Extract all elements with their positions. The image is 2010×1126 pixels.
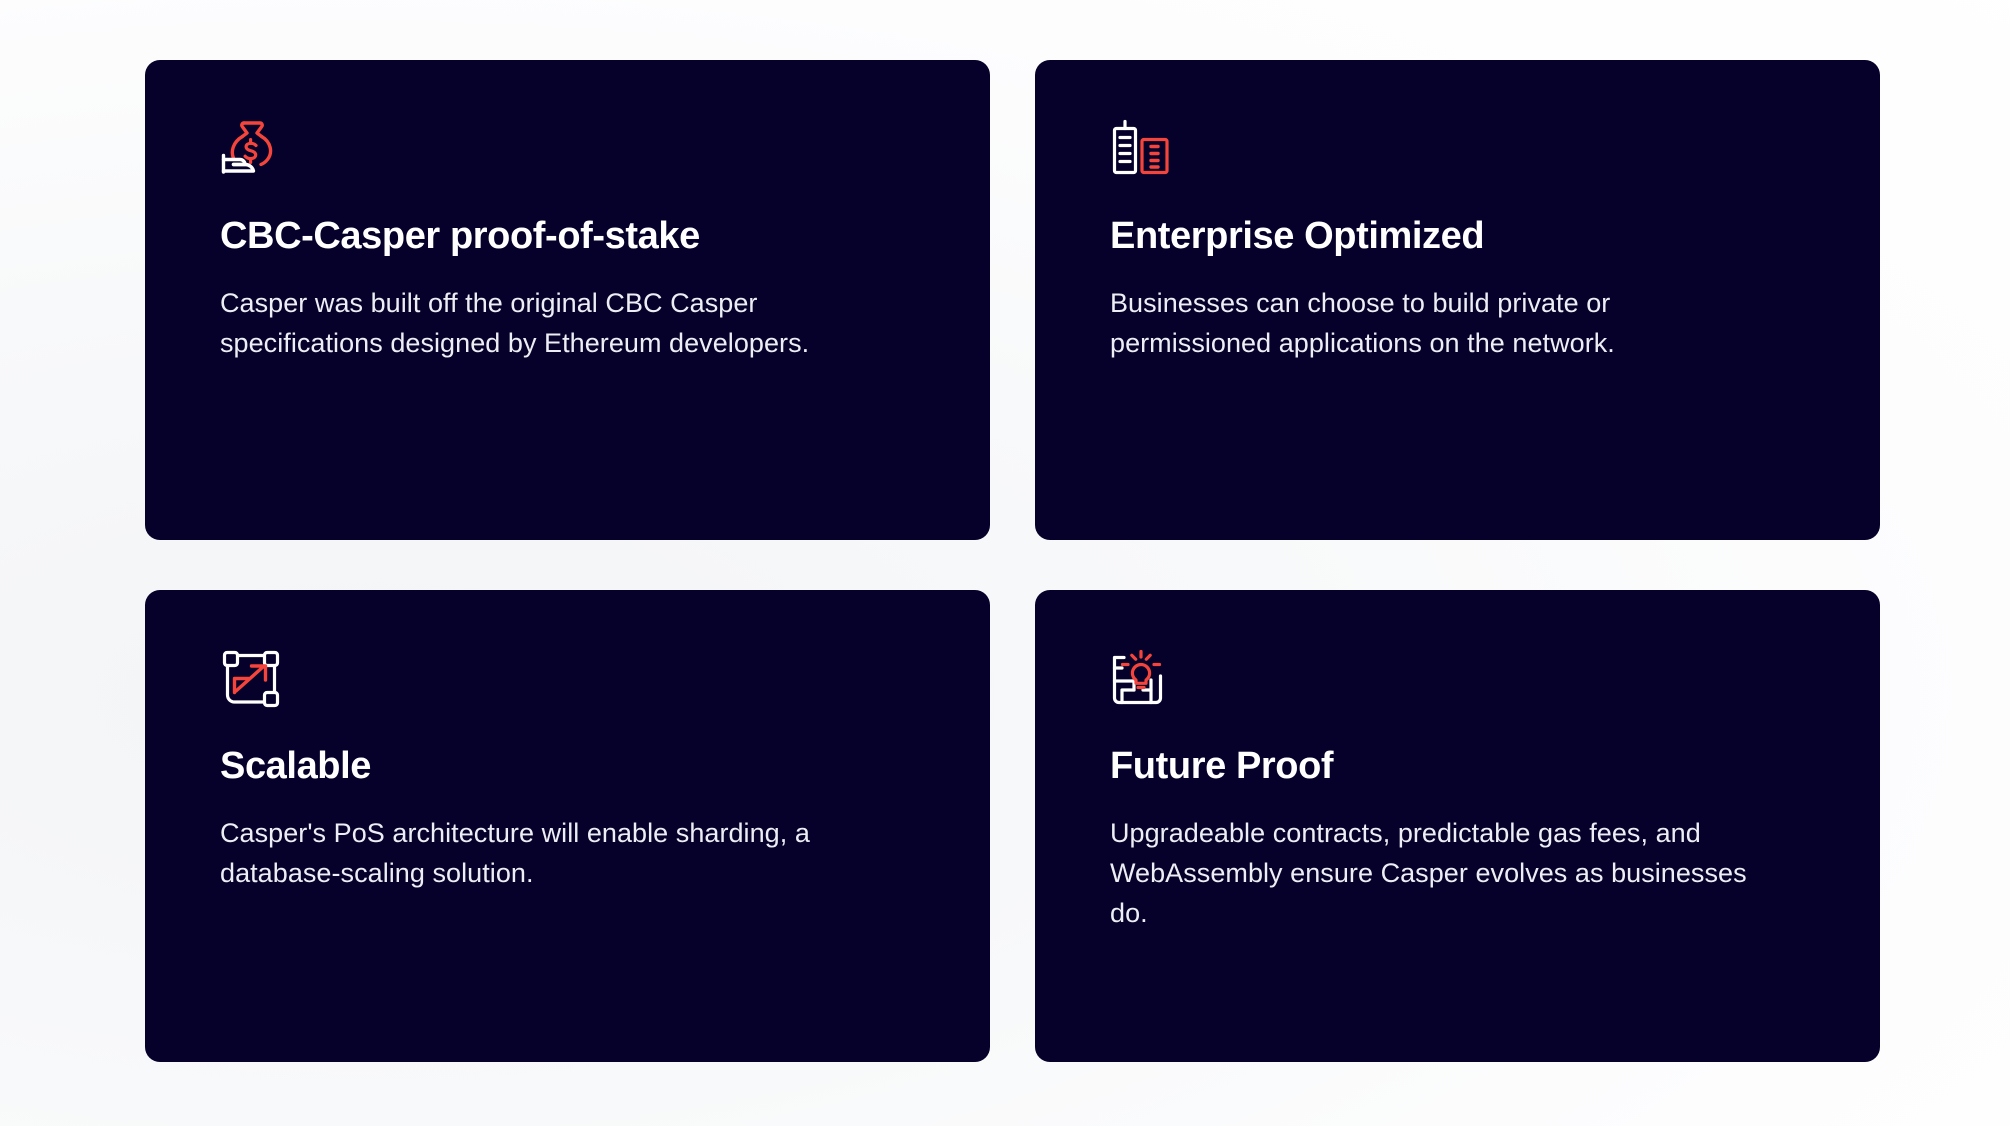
money-bag-in-hand-icon <box>220 118 282 180</box>
feature-card-enterprise-optimized[interactable]: Enterprise Optimized Businesses can choo… <box>1035 60 1880 540</box>
feature-card-cbc-casper[interactable]: CBC-Casper proof-of-stake Casper was bui… <box>145 60 990 540</box>
feature-card-future-proof[interactable]: Future Proof Upgradeable contracts, pred… <box>1035 590 1880 1062</box>
card-description: Casper was built off the original CBC Ca… <box>220 284 860 364</box>
card-description: Businesses can choose to build private o… <box>1110 284 1750 364</box>
office-buildings-icon <box>1110 118 1172 180</box>
feature-card-scalable[interactable]: Scalable Casper's PoS architecture will … <box>145 590 990 1062</box>
card-description: Upgradeable contracts, predictable gas f… <box>1110 814 1750 934</box>
card-title: Enterprise Optimized <box>1110 216 1805 258</box>
feature-cards-page: CBC-Casper proof-of-stake Casper was bui… <box>0 0 2010 1126</box>
card-description: Casper's PoS architecture will enable sh… <box>220 814 860 894</box>
scale-resize-arrow-icon <box>220 648 282 710</box>
lightbulb-blueprint-icon <box>1110 648 1172 710</box>
card-title: Scalable <box>220 746 915 788</box>
feature-card-grid: CBC-Casper proof-of-stake Casper was bui… <box>145 60 1880 1062</box>
card-title: Future Proof <box>1110 746 1805 788</box>
card-title: CBC-Casper proof-of-stake <box>220 216 915 258</box>
